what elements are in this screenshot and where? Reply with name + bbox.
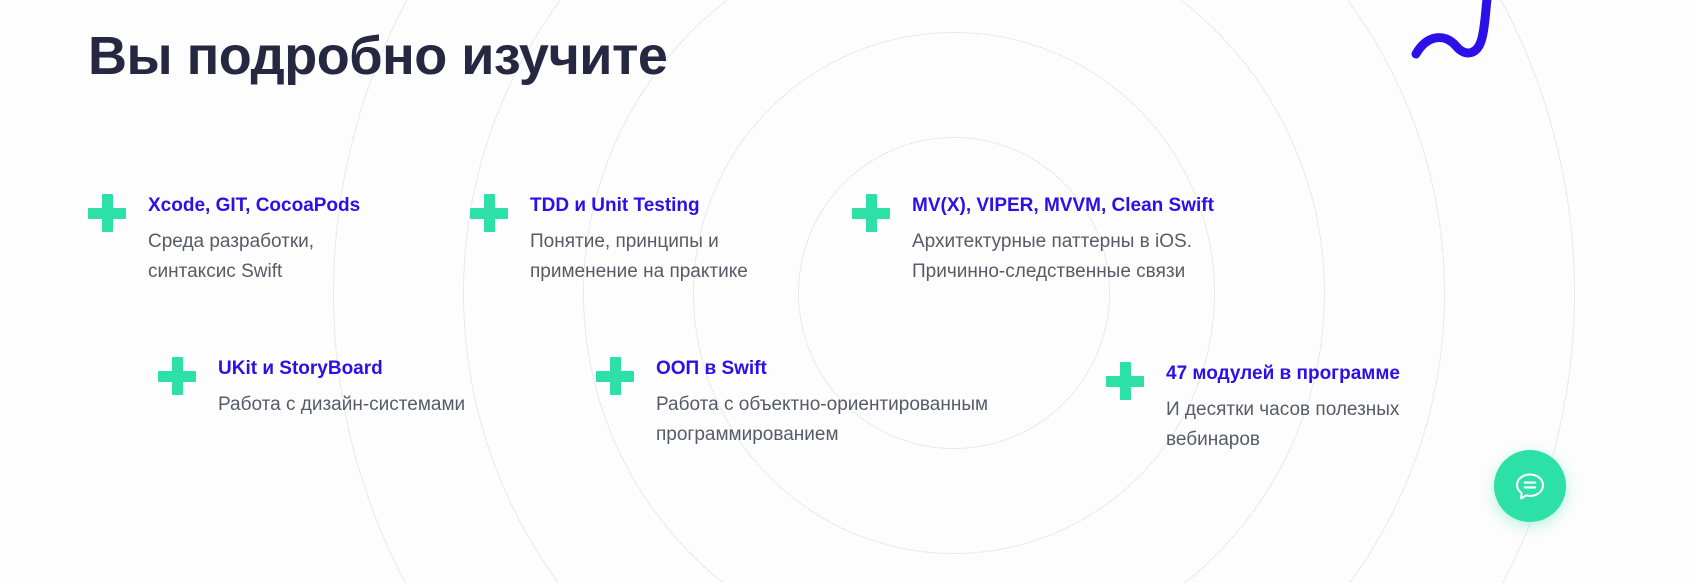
landing-section: Вы подробно изучите Xcode, GIT, CocoaPod… [0,0,1697,583]
feature-item-oop-swift: ООП в Swift Работа с объектно-ориентиров… [596,355,988,450]
plus-icon [88,194,126,232]
feature-title: MV(X), VIPER, MVVM, Clean Swift [912,195,1214,218]
plus-icon [470,194,508,232]
feature-title: 47 модулей в программе [1166,363,1400,386]
dotted-circle-4 [463,0,1445,583]
page-title: Вы подробно изучите [88,27,667,86]
plus-icon [158,357,196,395]
dotted-circle-5 [333,0,1575,583]
dotted-circle-2 [693,32,1215,554]
feature-title: ООП в Swift [656,358,988,381]
feature-title: UKit и StoryBoard [218,358,465,381]
feature-item-47-modules: 47 модулей в программе И десятки часов п… [1106,360,1400,455]
feature-item-tdd-unit-testing: TDD и Unit Testing Понятие, принципы и п… [470,192,748,287]
feature-title: TDD и Unit Testing [530,195,748,218]
feature-title: Xcode, GIT, CocoaPods [148,195,360,218]
plus-icon [852,194,890,232]
feature-item-xcode-git-cocoapods: Xcode, GIT, CocoaPods Среда разработки, … [88,192,360,287]
feature-item-architecture-patterns: MV(X), VIPER, MVVM, Clean Swift Архитект… [852,192,1214,287]
dotted-circle-3 [583,0,1325,583]
chat-bubble-icon [1513,469,1547,503]
plus-icon [596,357,634,395]
feature-description: Архитектурные паттерны в iOS. Причинно-с… [912,227,1214,287]
feature-description: И десятки часов полезных вебинаров [1166,395,1400,455]
feature-description: Работа с объектно-ориентированным програ… [656,390,988,450]
decorative-background [0,0,1697,583]
chat-widget-button[interactable] [1494,450,1566,522]
plus-icon [1106,362,1144,400]
feature-item-ukit-storyboard: UKit и StoryBoard Работа с дизайн-систем… [158,355,465,420]
squiggle-decoration [1404,0,1594,68]
feature-description: Среда разработки, синтаксис Swift [148,227,360,287]
feature-description: Работа с дизайн-системами [218,390,465,420]
feature-description: Понятие, принципы и применение на практи… [530,227,748,287]
